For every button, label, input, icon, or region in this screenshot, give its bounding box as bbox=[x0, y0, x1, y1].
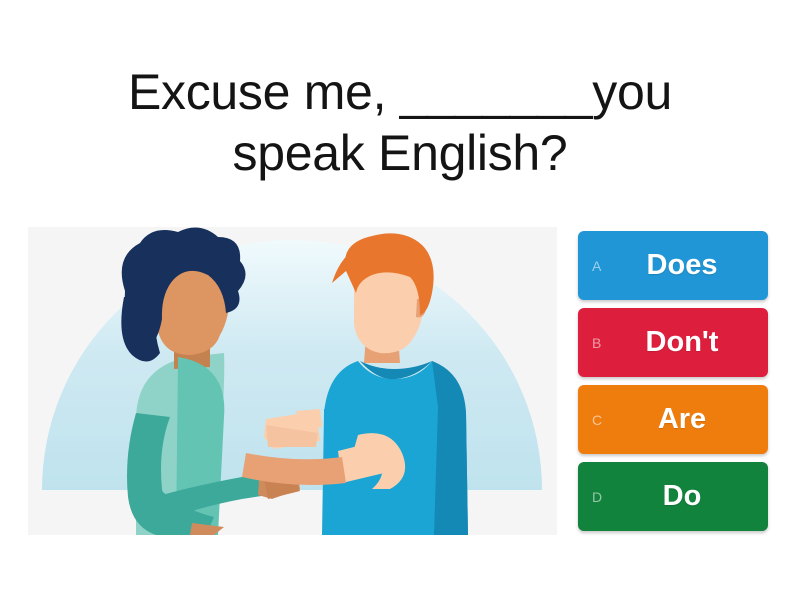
answer-letter-c: C bbox=[592, 412, 603, 428]
answer-option-a[interactable]: A Does bbox=[578, 231, 768, 300]
answer-option-b[interactable]: B Don't bbox=[578, 308, 768, 377]
answer-letter-a: A bbox=[592, 258, 602, 274]
illustration-panel bbox=[28, 227, 557, 535]
answer-letter-d: D bbox=[592, 489, 603, 505]
answer-option-c[interactable]: C Are bbox=[578, 385, 768, 454]
answer-label-b: Don't bbox=[620, 328, 727, 357]
two-people-conversation-illustration bbox=[28, 227, 557, 535]
answer-options-list: A Does B Don't C Are D Do bbox=[578, 231, 768, 531]
answer-label-c: Are bbox=[632, 405, 714, 434]
answer-label-a: Does bbox=[621, 251, 726, 280]
question-text: Excuse me, _______you speak English? bbox=[40, 62, 760, 184]
answer-option-d[interactable]: D Do bbox=[578, 462, 768, 531]
answer-label-d: Do bbox=[637, 482, 710, 511]
answer-letter-b: B bbox=[592, 335, 602, 351]
